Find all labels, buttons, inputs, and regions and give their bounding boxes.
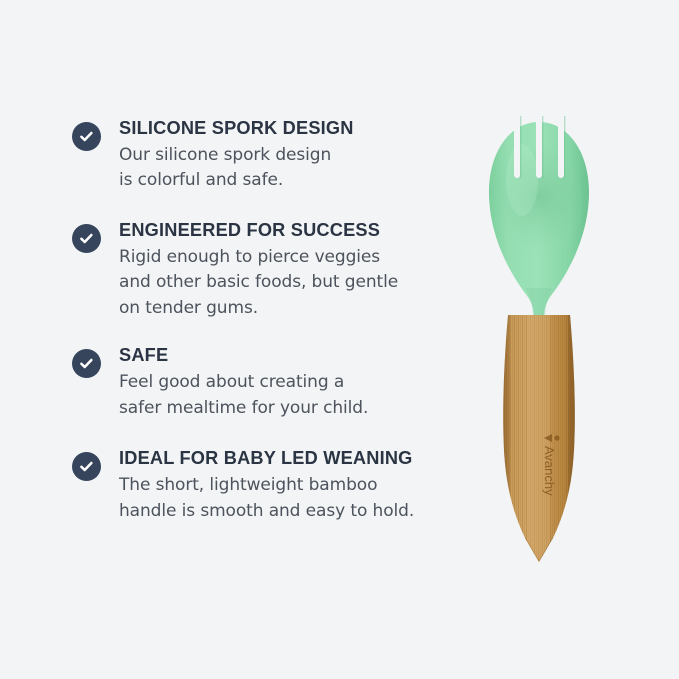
check-circle-icon — [72, 224, 101, 253]
feature-list: SILICONE SPORK DESIGN Our silicone spork… — [72, 118, 472, 524]
feature-description-line: Feel good about creating a — [119, 370, 472, 396]
feature-title: IDEAL FOR BABY LED WEANING — [119, 448, 472, 469]
product-image-baby-spork: Avanchy — [470, 110, 630, 570]
feature-item-engineered-for-success: ENGINEERED FOR SUCCESS Rigid enough to p… — [72, 220, 472, 321]
feature-description: Our silicone spork design is colorful an… — [119, 143, 472, 194]
feature-description: Feel good about creating a safer mealtim… — [119, 370, 472, 421]
feature-item-safe: SAFE Feel good about creating a safer me… — [72, 345, 472, 421]
feature-item-silicone-spork-design: SILICONE SPORK DESIGN Our silicone spork… — [72, 118, 472, 194]
check-circle-icon — [72, 452, 101, 481]
feature-description-line: on tender gums. — [119, 296, 472, 322]
feature-title: ENGINEERED FOR SUCCESS — [119, 220, 472, 241]
feature-description-line: and other basic foods, but gentle — [119, 270, 472, 296]
feature-description-line: The short, lightweight bamboo — [119, 473, 472, 499]
product-infographic: SILICONE SPORK DESIGN Our silicone spork… — [0, 0, 679, 679]
silicone-spork-head — [489, 116, 589, 318]
feature-title: SAFE — [119, 345, 472, 366]
check-circle-icon — [72, 349, 101, 378]
feature-description-line: is colorful and safe. — [119, 168, 472, 194]
feature-description-line: safer mealtime for your child. — [119, 396, 472, 422]
feature-description-line: Rigid enough to pierce veggies — [119, 245, 472, 271]
brand-name: Avanchy — [542, 446, 557, 496]
check-circle-icon — [72, 122, 101, 151]
bamboo-handle: Avanchy — [500, 310, 580, 570]
feature-title: SILICONE SPORK DESIGN — [119, 118, 472, 139]
feature-description-line: Our silicone spork design — [119, 143, 472, 169]
feature-item-ideal-for-baby-led-weaning: IDEAL FOR BABY LED WEANING The short, li… — [72, 448, 472, 524]
feature-description: The short, lightweight bamboo handle is … — [119, 473, 472, 524]
feature-description: Rigid enough to pierce veggies and other… — [119, 245, 472, 322]
feature-description-line: handle is smooth and easy to hold. — [119, 499, 472, 525]
